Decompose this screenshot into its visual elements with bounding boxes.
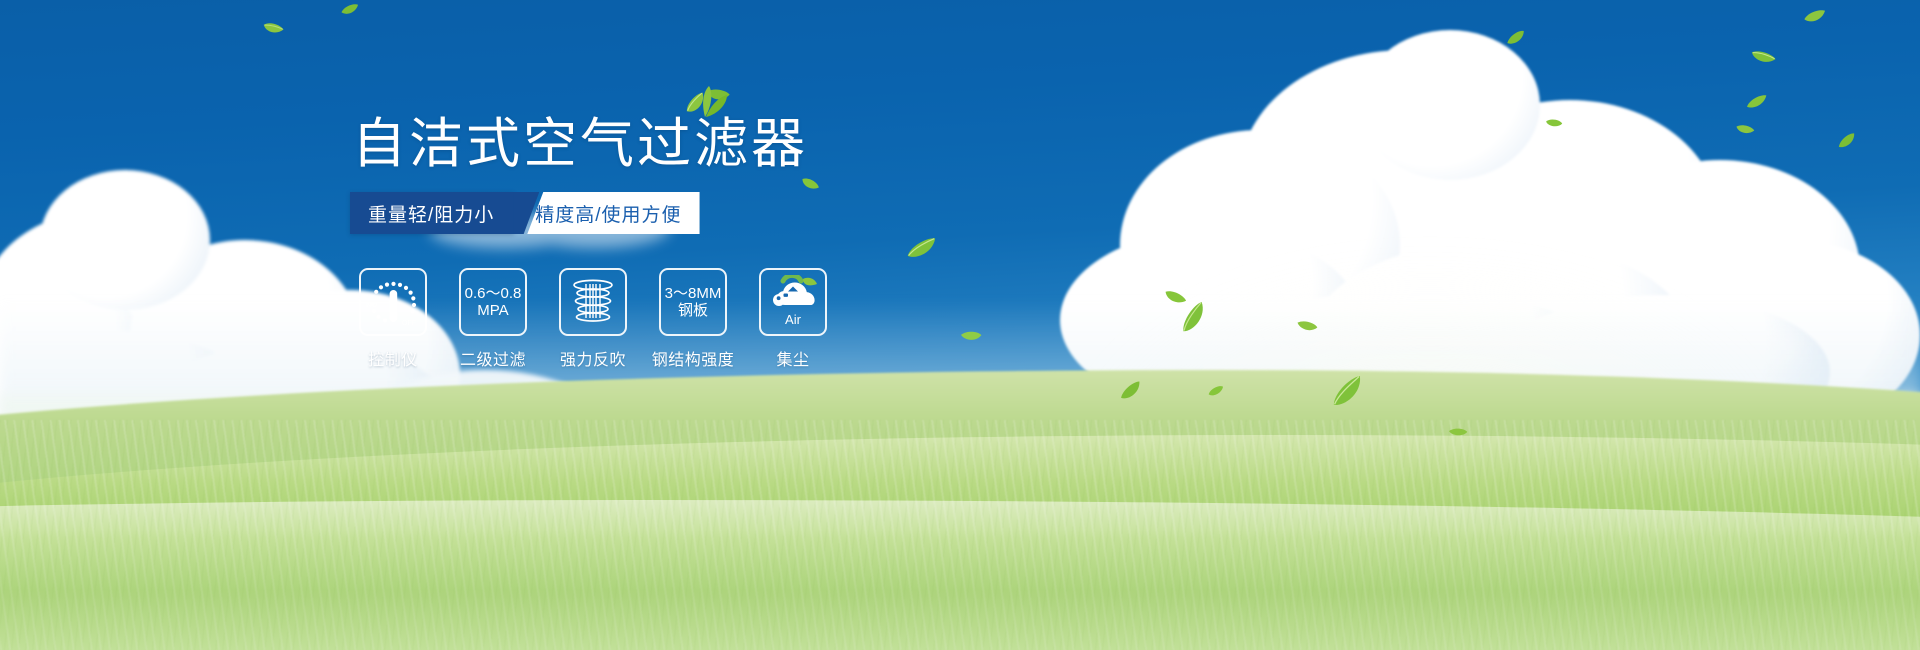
gauge-icon: NO OFF <box>364 275 422 329</box>
feature-caption: 钢结构强度 <box>652 346 735 370</box>
page-title: 自洁式空气过滤器 <box>352 112 808 176</box>
feature-caption: 强力反吹 <box>560 346 626 370</box>
feature-caption: 二级过滤 <box>460 346 526 370</box>
feature-caption: 集尘 <box>776 346 809 370</box>
product-banner: 自洁式空气过滤器 重量轻/阻力小 精度高/使用方便 <box>0 0 1920 650</box>
feature-tabs: 重量轻/阻力小 精度高/使用方便 <box>350 192 700 234</box>
tab-weight-resistance[interactable]: 重量轻/阻力小 <box>350 192 514 234</box>
filter-coil-icon-box <box>559 268 627 336</box>
steel-plate-text-icon-box: 3～8MM 钢板 <box>659 268 727 336</box>
feature-caption: 控制仪 <box>368 346 418 370</box>
svg-text:NO: NO <box>366 300 377 309</box>
feature-item-back-blow[interactable]: 强力反吹 <box>558 268 628 370</box>
pressure-unit-text: MPA <box>477 302 508 319</box>
steel-thickness-text: 3～8MM <box>665 285 722 302</box>
gauge-icon-box: NO OFF <box>359 268 427 336</box>
title-leaf-icon <box>682 84 730 123</box>
air-cloud-icon <box>765 275 821 315</box>
tab-precision-convenience[interactable]: 精度高/使用方便 <box>527 192 699 234</box>
title-block: 自洁式空气过滤器 <box>352 112 808 176</box>
feature-item-two-stage-filter[interactable]: 0.6～0.8 MPA 二级过滤 <box>458 268 528 370</box>
steel-plate-text: 钢板 <box>678 302 708 319</box>
pressure-range-text: 0.6～0.8 <box>465 285 522 302</box>
air-cloud-icon-box: Air <box>759 268 827 336</box>
feature-icon-row: NO OFF 控制仪 0.6～0.8 MPA 二级过滤 <box>358 268 828 370</box>
feature-item-controller[interactable]: NO OFF 控制仪 <box>358 268 428 370</box>
pressure-text-icon-box: 0.6～0.8 MPA <box>459 268 527 336</box>
feature-item-steel-strength[interactable]: 3～8MM 钢板 钢结构强度 <box>658 268 728 370</box>
feature-item-dust-collection[interactable]: Air 集尘 <box>758 268 828 370</box>
air-label-text: Air <box>785 311 801 328</box>
svg-text:OFF: OFF <box>402 320 416 327</box>
filter-coil-icon <box>567 276 619 328</box>
